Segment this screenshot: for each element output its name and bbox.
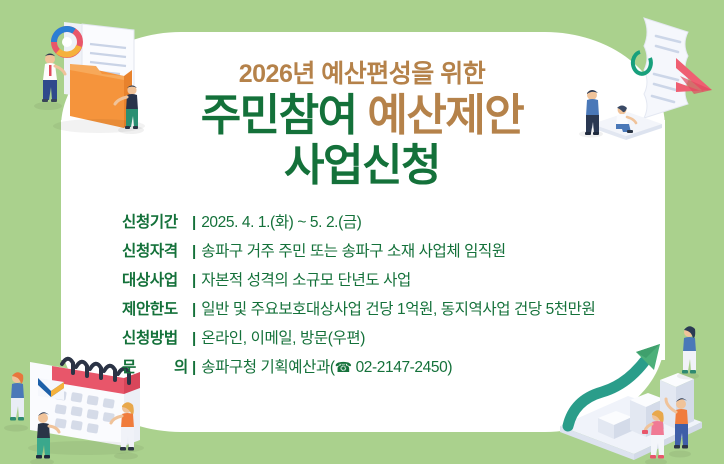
label-separator: |	[190, 266, 201, 295]
info-value: 송파구 거주 주민 또는 송파구 소재 사업체 임직원	[201, 237, 506, 266]
telephone-icon: ☎	[335, 359, 352, 375]
poster-subtitle: 2026년 예산편성을 위한	[0, 54, 724, 90]
info-label: 신청자격	[122, 237, 190, 266]
label-separator: |	[190, 208, 201, 237]
info-row-application-method: 신청방법 | 온라인, 이메일, 방문(우편)	[122, 324, 682, 353]
poster-title-line-2: 사업신청	[0, 144, 724, 188]
poster-canvas: 2026년 예산편성을 위한 주민참여 예산제안 사업신청 신청기간 | 202…	[0, 0, 724, 464]
info-value: 자본적 성격의 소규모 단년도 사업	[201, 266, 411, 295]
info-list: 신청기간 | 2025. 4. 1.(화) ~ 5. 2.(금) 신청자격 | …	[122, 208, 682, 382]
label-separator: |	[190, 295, 201, 324]
title-part-tan: 예산제안	[367, 91, 523, 140]
info-label: 문 의	[122, 353, 190, 382]
info-label: 신청기간	[122, 208, 190, 237]
info-value: 2025. 4. 1.(화) ~ 5. 2.(금)	[201, 208, 361, 237]
info-label-char-2: 의	[174, 353, 188, 382]
info-label: 제안한도	[122, 295, 190, 324]
label-separator: |	[190, 353, 201, 382]
info-value: 송파구청 기획예산과(☎ 02-2147-2450)	[201, 353, 452, 382]
info-row-eligibility: 신청자격 | 송파구 거주 주민 또는 송파구 소재 사업체 임직원	[122, 237, 682, 266]
info-value: 일반 및 주요보호대상사업 건당 1억원, 동지역사업 건당 5천만원	[201, 295, 595, 324]
inquiry-office: 송파구청 기획예산과(	[201, 359, 334, 376]
inquiry-phone-number: 02-2147-2450	[352, 359, 448, 376]
label-separator: |	[190, 324, 201, 353]
title-part-green: 주민참여	[201, 91, 357, 140]
info-label-char-1: 문	[122, 353, 136, 382]
info-row-proposal-limit: 제안한도 | 일반 및 주요보호대상사업 건당 1억원, 동지역사업 건당 5천…	[122, 295, 682, 324]
poster-text-content: 2026년 예산편성을 위한 주민참여 예산제안 사업신청 신청기간 | 202…	[0, 0, 724, 464]
poster-title-line-1: 주민참여 예산제안	[0, 94, 724, 138]
info-label: 신청방법	[122, 324, 190, 353]
info-row-target-project: 대상사업 | 자본적 성격의 소규모 단년도 사업	[122, 266, 682, 295]
inquiry-suffix: )	[447, 359, 452, 376]
info-row-application-period: 신청기간 | 2025. 4. 1.(화) ~ 5. 2.(금)	[122, 208, 682, 237]
info-label: 대상사업	[122, 266, 190, 295]
info-value: 온라인, 이메일, 방문(우편)	[201, 324, 365, 353]
info-row-inquiry: 문 의 | 송파구청 기획예산과(☎ 02-2147-2450)	[122, 353, 682, 382]
label-separator: |	[190, 237, 201, 266]
